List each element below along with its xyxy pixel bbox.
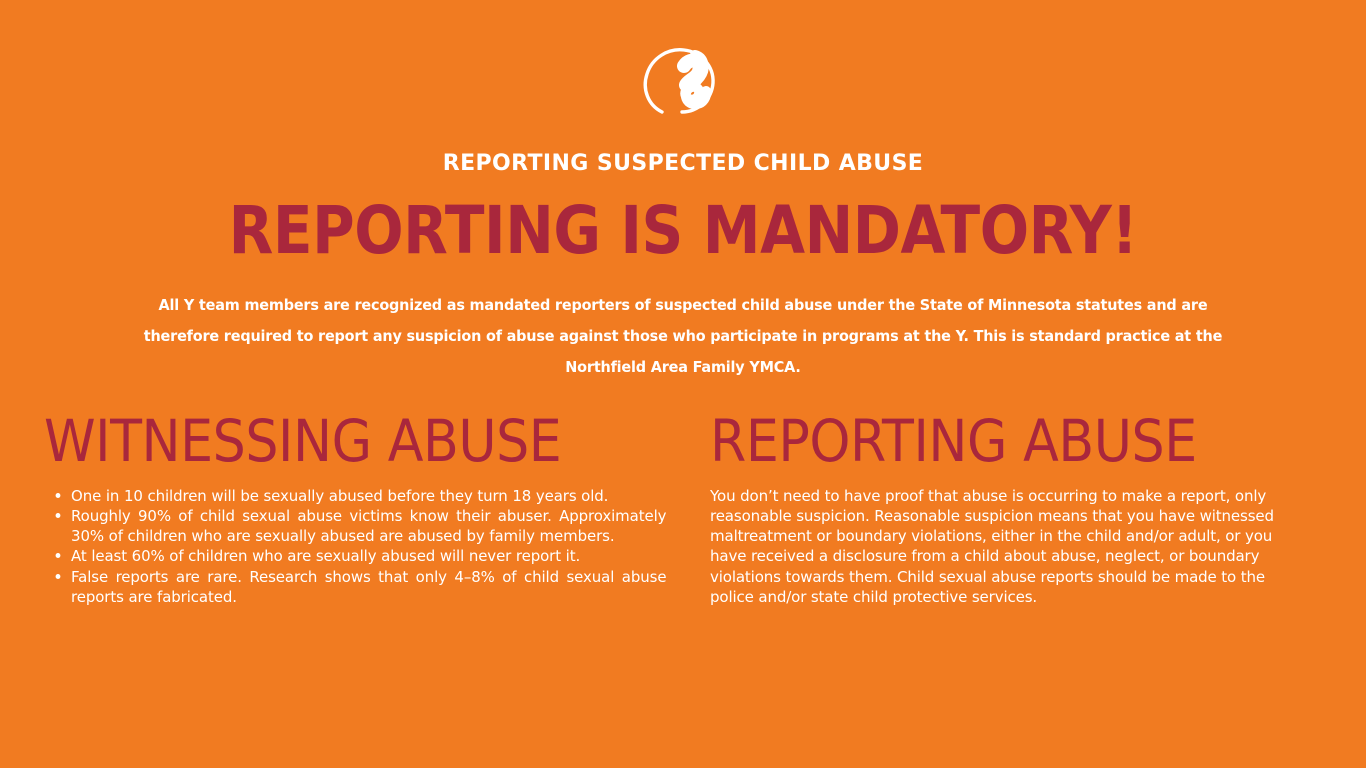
list-item: Roughly 90% of child sexual abuse victim… [44,506,666,546]
slide-root: REPORTING SUSPECTED CHILD ABUSE REPORTIN… [0,0,1366,768]
columns-container: WITNESSING ABUSE One in 10 children will… [0,412,1366,702]
list-item: At least 60% of children who are sexuall… [44,546,666,566]
section-title-reporting-abuse: REPORTING ABUSE [710,412,1250,470]
witnessing-abuse-bullet-list: One in 10 children will be sexually abus… [44,486,666,607]
column-witnessing-abuse: WITNESSING ABUSE One in 10 children will… [44,412,704,607]
section-title-witnessing-abuse: WITNESSING ABUSE [44,412,638,470]
intro-paragraph: All Y team members are recognized as man… [122,290,1244,383]
page-title: REPORTING IS MANDATORY! [82,196,1284,266]
phone-handset-in-circle-logo [640,35,726,121]
kicker-text: REPORTING SUSPECTED CHILD ABUSE [0,152,1366,176]
list-item: One in 10 children will be sexually abus… [44,486,666,506]
list-item: False reports are rare. Research shows t… [44,567,666,607]
column-reporting-abuse: REPORTING ABUSE You don’t need to have p… [710,412,1310,607]
reporting-abuse-paragraph: You don’t need to have proof that abuse … [710,486,1300,607]
logo-container [0,28,1366,128]
